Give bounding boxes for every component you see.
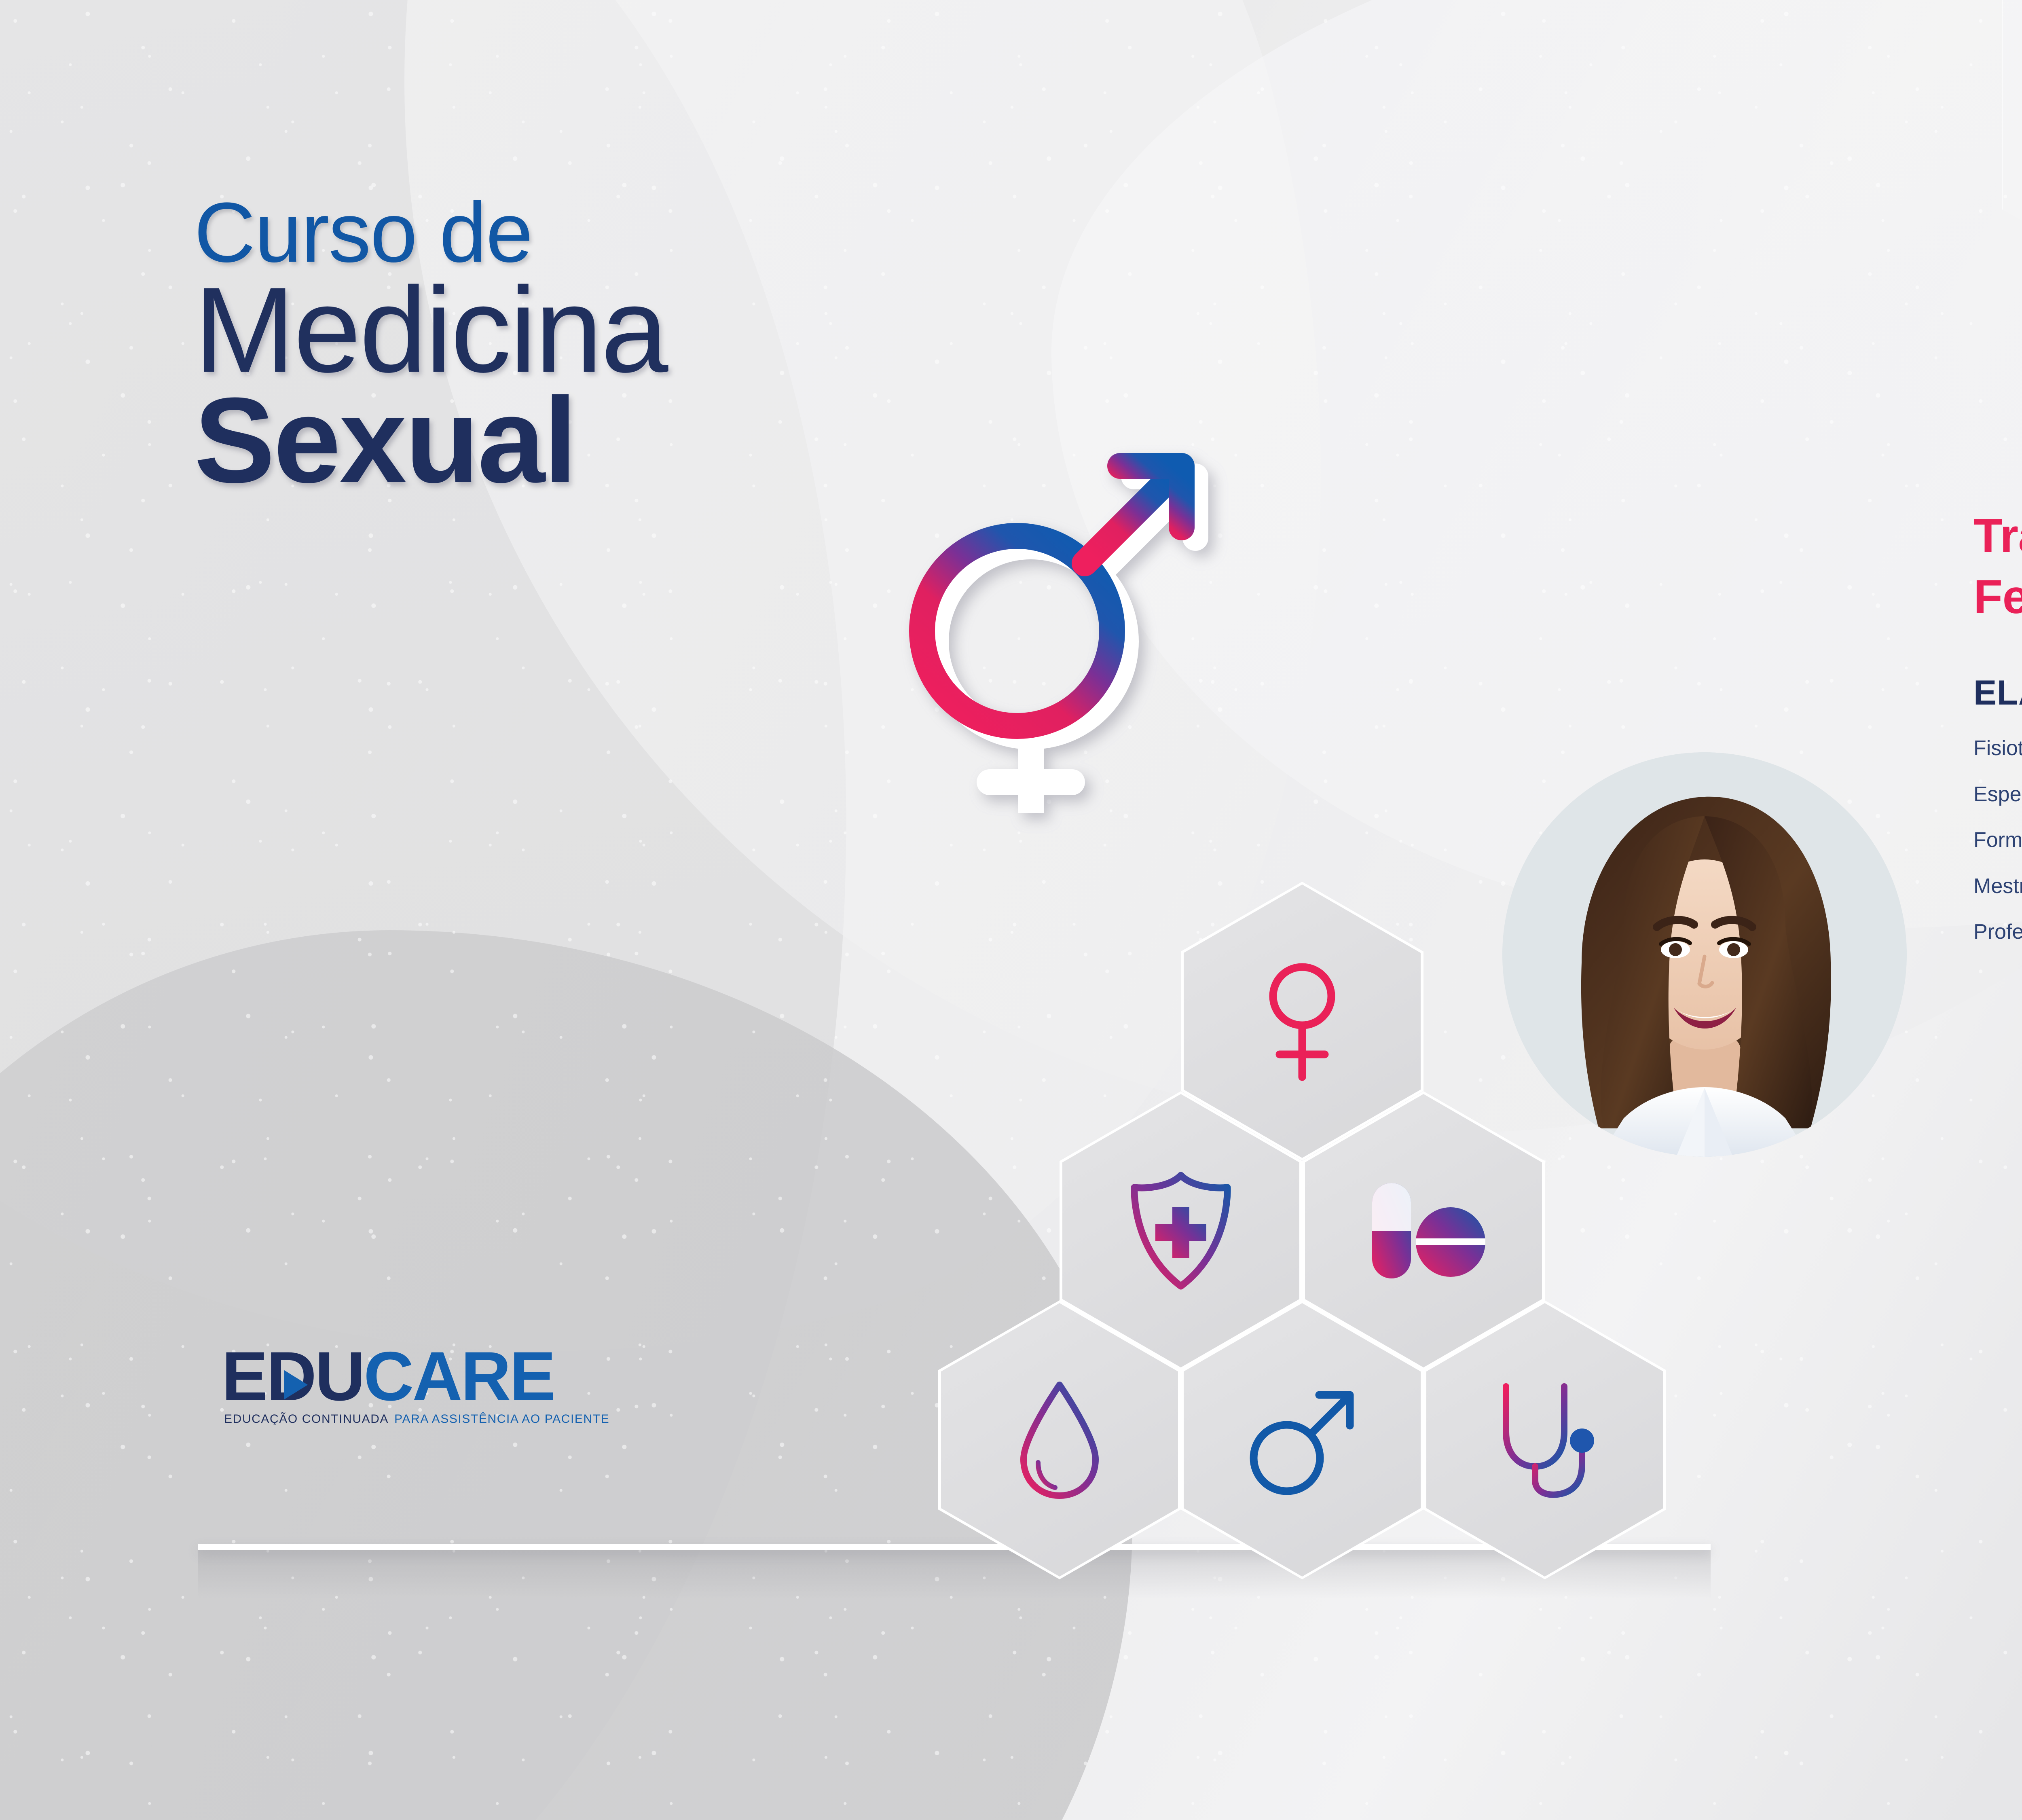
speaker-info-panel: Transtornos Sexuais Femininos ELAINE SPI… xyxy=(1973,506,2022,965)
course-line-sexual: Sexual xyxy=(194,379,667,501)
credential-item: Especialista em Saúde da Mulher pelo COF… xyxy=(1973,781,2022,808)
pill-tablet-icon xyxy=(1357,1174,1490,1287)
educare-wordmark: E D U CARE xyxy=(222,1347,650,1407)
logo-letter-d: D xyxy=(266,1347,315,1407)
transgender-symbol-icon xyxy=(878,437,1213,813)
logo-letter-u: U xyxy=(315,1347,364,1407)
logo-word-care: CARE xyxy=(364,1347,554,1407)
background-hexagon-1 xyxy=(2002,0,2022,314)
play-triangle-icon xyxy=(284,1370,308,1399)
course-title-block: Curso de Medicina Sexual xyxy=(194,190,667,501)
credential-item: Formação em Sexologia Clínica xyxy=(1973,827,2022,854)
logo-letter-e: E xyxy=(222,1347,266,1407)
slide-canvas: Curso de Medicina Sexual xyxy=(0,0,2022,1820)
stethoscope-icon xyxy=(1488,1379,1601,1500)
water-drop-icon xyxy=(1013,1379,1106,1500)
credential-item: Professora de pós graduação (Ciências Me… xyxy=(1973,918,2022,946)
male-symbol-icon xyxy=(1242,1381,1363,1498)
speaker-name: ELAINE SPINASSÉ CAMILLATO xyxy=(1973,673,2022,713)
shield-cross-icon xyxy=(1122,1168,1239,1293)
educare-logo: E D U CARE EDUCAÇÃO CONTINUADA PARA ASSI… xyxy=(222,1347,650,1426)
tagline-part-b: PARA ASSISTÊNCIA AO PACIENTE xyxy=(394,1412,609,1426)
lecture-title: Transtornos Sexuais Femininos xyxy=(1973,506,2022,628)
speaker-credentials-list: Fisioterapeuta Especialista em Saúde da … xyxy=(1973,735,2022,946)
credential-item: Mestrado em Ciências da Saúde xyxy=(1973,873,2022,900)
credential-item: Fisioterapeuta xyxy=(1973,735,2022,762)
lecture-title-line-1: Transtornos Sexuais xyxy=(1973,506,2022,567)
speaker-avatar xyxy=(1502,752,1907,1157)
female-symbol-icon xyxy=(1254,961,1351,1082)
lecture-title-line-2: Femininos xyxy=(1973,567,2022,628)
